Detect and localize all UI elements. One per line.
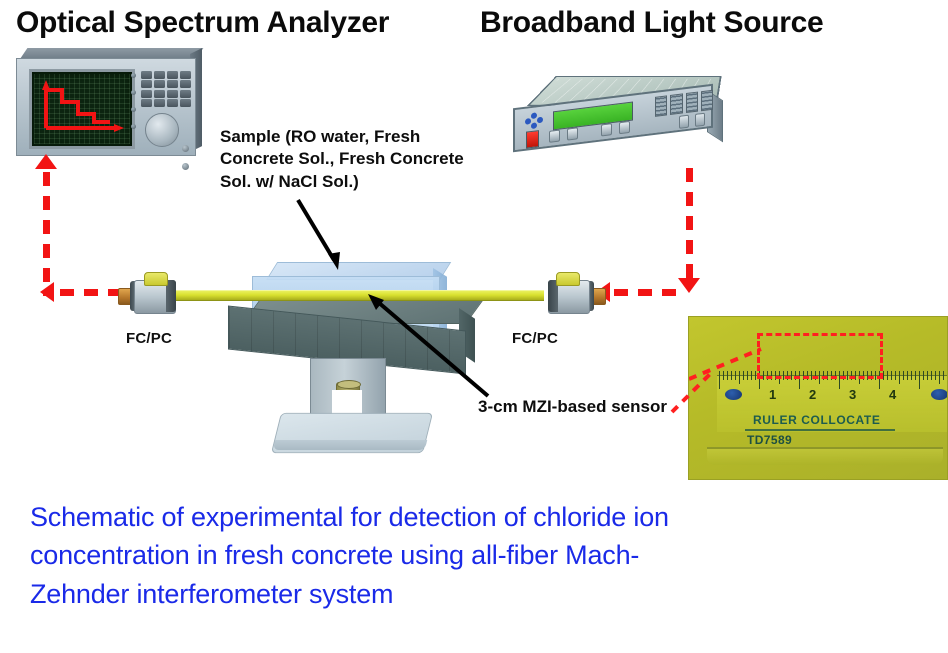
osa-title: Optical Spectrum Analyzer [16,8,389,38]
ruler-model-text: TD7589 [747,433,792,447]
fcpc-connector-left [116,272,190,318]
osa-front-panel [16,58,196,156]
sensor-highlight-box [757,333,883,379]
fcpc-connector-right [534,272,608,318]
sample-pointer-arrow [290,196,360,276]
connector-cap [556,272,580,286]
schematic-canvas: Optical Spectrum Analyzer Broadband Ligh… [0,0,948,653]
light-path-right-horizontal [614,289,680,296]
ruler-divider [745,429,895,431]
osa-display [29,69,135,149]
osa-softkey-buttons[interactable] [131,73,138,135]
power-switch-icon[interactable] [526,130,539,149]
figure-caption: Schematic of experimental for detection … [30,498,720,613]
fcpc-label-right: FC/PC [512,330,558,347]
fcpc-label-left: FC/PC [126,330,172,347]
sensor-pointer-arrow [360,288,500,402]
direction-pad-icon[interactable] [525,112,543,130]
table-base-lip [273,440,427,450]
ruler-hole-left [725,389,742,400]
light-source-ports[interactable] [673,113,705,135]
ruler-brand-text: RULER COLLOCATE [753,413,880,427]
optical-spectrum-analyzer [14,48,204,156]
connector-cap [144,272,168,286]
osa-spectrum-trace-icon [32,72,126,140]
ruler-numbers: 01234 [717,387,947,405]
photo-callout-line [672,370,712,416]
ruler-tick-number: 4 [889,387,896,402]
sensor-label: 3-cm MZI-based sensor [478,396,688,418]
sensor-photo-inset: 01234 RULER COLLOCATE TD7589 [688,316,948,480]
ruler-lower-edge [707,447,943,465]
osa-keypad[interactable] [141,71,191,107]
light-source-title: Broadband Light Source [480,8,823,38]
sample-label: Sample (RO water, Fresh Concrete Sol., F… [220,126,490,193]
ruler-tick-number: 1 [769,387,776,402]
broadband-light-source [505,50,725,160]
ruler-tick-number: 2 [809,387,816,402]
osa-small-buttons[interactable] [179,139,195,175]
osa-rotary-knob[interactable] [145,113,179,147]
light-path-arrow-left [40,282,54,302]
ruler-tick-number: 3 [849,387,856,402]
light-path-right-vertical [686,168,693,280]
ruler-hole-right [931,389,948,400]
light-path-arrow-down [678,278,700,293]
light-path-left-vertical [43,172,50,296]
light-path-arrow-into-osa [35,154,57,169]
